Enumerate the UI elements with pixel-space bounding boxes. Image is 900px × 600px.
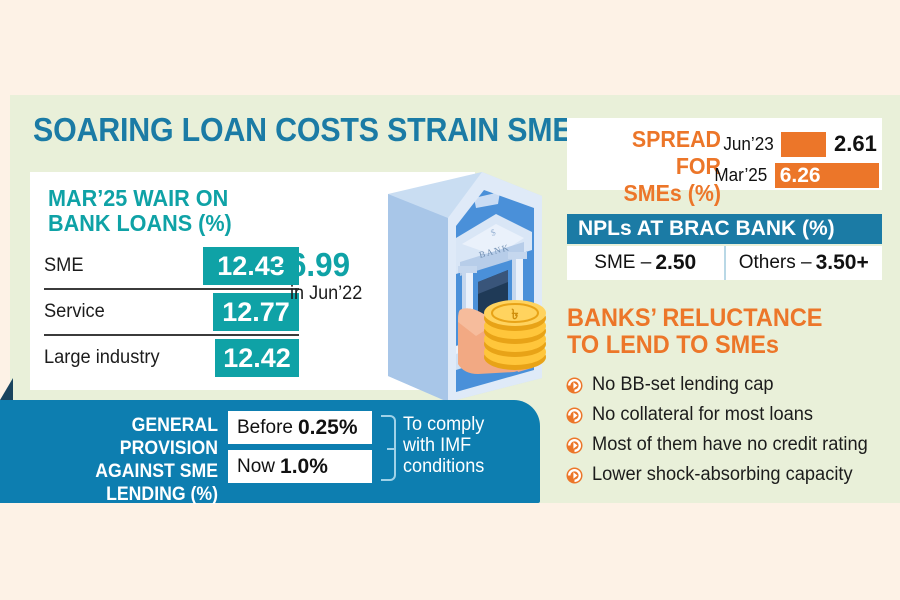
wair-rows: SME 12.43 Service 12.77 Large industry 1… bbox=[44, 244, 299, 380]
general-provision-now-box: Now 1.0% bbox=[228, 450, 372, 483]
wair-row: SME 12.43 bbox=[44, 244, 299, 290]
npl-others-label: Others – bbox=[739, 252, 812, 274]
wair-row-label: SME bbox=[44, 255, 84, 277]
infographic-root: SOARING LOAN COSTS STRAIN SMEs MAR’25 WA… bbox=[0, 0, 900, 600]
arrow-right-circle-icon bbox=[566, 377, 592, 394]
wair-row-value: 12.42 bbox=[215, 339, 299, 377]
list-item: Lower shock-absorbing capacity bbox=[566, 460, 896, 490]
npl-card-body: SME – 2.50 Others – 3.50+ bbox=[567, 246, 882, 280]
arrow-right-circle-icon bbox=[566, 437, 592, 454]
spread-title-line1: SPREAD FOR bbox=[632, 126, 721, 179]
wair-row-label: Large industry bbox=[44, 347, 160, 369]
spread-card-title: SPREAD FOR SMEs (%) bbox=[586, 126, 721, 207]
npl-card-header: NPLs AT BRAC BANK (%) bbox=[567, 214, 882, 244]
wair-callout-subtext: in Jun’22 bbox=[290, 283, 362, 305]
wair-row-label: Service bbox=[44, 301, 105, 323]
list-item-label: No BB-set lending cap bbox=[592, 374, 774, 396]
spread-bar: 6.26 bbox=[775, 163, 879, 188]
wair-title-line1: MAR’25 WAIR ON bbox=[48, 185, 228, 211]
list-item-label: No collateral for most loans bbox=[592, 404, 813, 426]
general-provision-note: To comply with IMF conditions bbox=[403, 414, 508, 477]
list-item-label: Lower shock-absorbing capacity bbox=[592, 464, 853, 486]
wair-title-line2: BANK LOANS (%) bbox=[48, 210, 232, 236]
reluctance-title-line1: BANKS’ RELUCTANCE bbox=[567, 304, 822, 332]
gp-title-line1: GENERAL PROVISION bbox=[120, 415, 218, 459]
bank-mobile-coins-illustration: BANK $ ৳ bbox=[372, 170, 572, 410]
callout-connector-line bbox=[272, 267, 288, 270]
arrow-right-circle-icon bbox=[566, 407, 592, 424]
gp-title-line3: LENDING (%) bbox=[106, 484, 218, 505]
list-item: No BB-set lending cap bbox=[566, 370, 896, 400]
general-provision-title: GENERAL PROVISION AGAINST SME LENDING (%… bbox=[41, 414, 218, 506]
spread-value: 2.61 bbox=[834, 131, 877, 157]
gp-before-label: Before bbox=[237, 417, 293, 439]
npl-others-value: 3.50+ bbox=[816, 251, 869, 275]
bracket-connector bbox=[381, 415, 396, 481]
gp-now-value: 1.0% bbox=[280, 455, 328, 479]
spread-period-label: Mar’25 bbox=[714, 165, 767, 186]
npl-cell-sme: SME – 2.50 bbox=[567, 246, 724, 280]
npl-sme-label: SME – bbox=[594, 252, 651, 274]
npl-sme-value: 2.50 bbox=[655, 251, 696, 275]
gp-before-value: 0.25% bbox=[298, 416, 358, 440]
general-provision-before-box: Before 0.25% bbox=[228, 411, 372, 444]
wair-row: Large industry 12.42 bbox=[44, 336, 299, 380]
spread-title-line2: SMEs (%) bbox=[624, 180, 721, 206]
spread-row: Mar’25 6.26 bbox=[713, 163, 879, 188]
reluctance-list: No BB-set lending cap No collateral for … bbox=[566, 370, 896, 490]
spread-bar bbox=[781, 132, 826, 157]
arrow-right-circle-icon bbox=[566, 467, 592, 484]
list-item-label: Most of them have no credit rating bbox=[592, 434, 868, 456]
page-title: SOARING LOAN COSTS STRAIN SMEs bbox=[33, 111, 530, 149]
reluctance-title: BANKS’ RELUCTANCE TO LEND TO SMEs bbox=[567, 305, 868, 359]
wair-callout-value: 6.99 bbox=[289, 246, 350, 284]
npl-cell-others: Others – 3.50+ bbox=[724, 246, 883, 280]
spread-row: Jun’23 2.61 bbox=[722, 131, 877, 157]
svg-text:৳: ৳ bbox=[512, 306, 519, 322]
panel-notch bbox=[0, 378, 13, 400]
gp-title-line2: AGAINST SME bbox=[95, 461, 218, 482]
wair-card-title: MAR’25 WAIR ON BANK LOANS (%) bbox=[48, 186, 232, 236]
gp-now-label: Now bbox=[237, 456, 275, 478]
list-item: No collateral for most loans bbox=[566, 400, 896, 430]
spread-period-label: Jun’23 bbox=[723, 134, 773, 155]
reluctance-title-line2: TO LEND TO SMEs bbox=[567, 331, 779, 359]
coin-stack-icon: ৳ bbox=[484, 300, 546, 370]
wair-row: Service 12.77 bbox=[44, 290, 299, 336]
wair-row-value: 12.43 bbox=[203, 247, 299, 285]
wair-row-value: 12.77 bbox=[213, 293, 299, 331]
list-item: Most of them have no credit rating bbox=[566, 430, 896, 460]
